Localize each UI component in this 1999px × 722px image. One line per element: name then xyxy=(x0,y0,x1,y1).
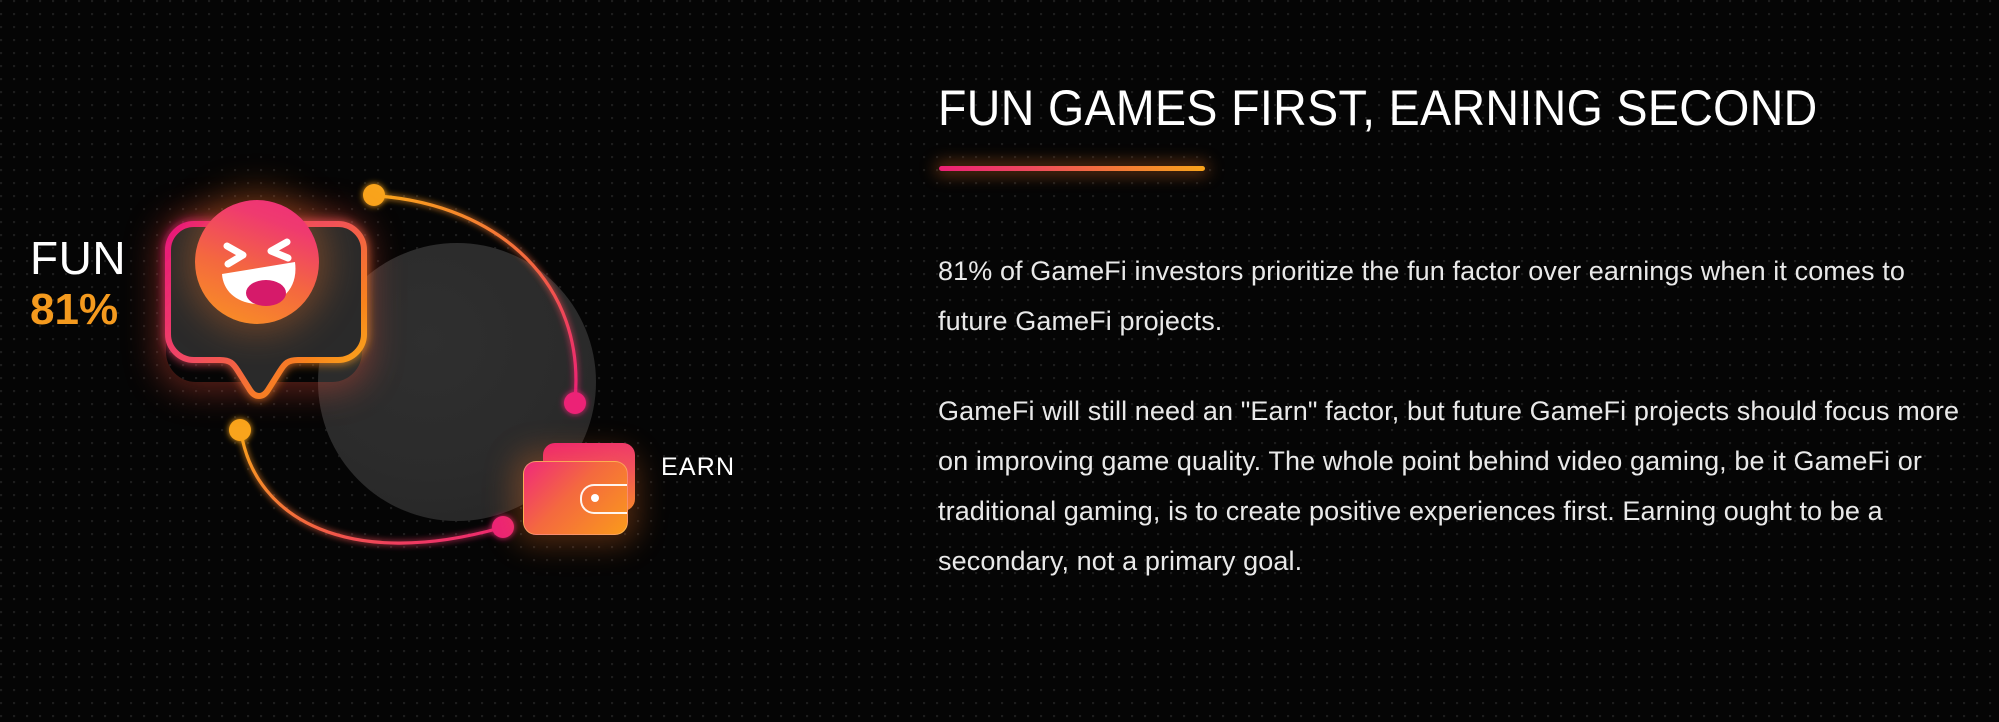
emoji-right-eye-icon xyxy=(271,242,288,258)
body-paragraph-1: 81% of GameFi investors prioritize the f… xyxy=(938,247,1968,347)
wallet-clasp-dot xyxy=(591,494,599,502)
wallet-front-card xyxy=(523,461,628,535)
wallet-icon xyxy=(505,425,645,540)
body-paragraph-2: GameFi will still need an "Earn" factor,… xyxy=(938,387,1968,587)
illustration-panel: FUN 81% xyxy=(0,0,930,722)
wallet-clasp-icon xyxy=(580,484,628,514)
page-title: FUN GAMES FIRST, EARNING SECOND xyxy=(938,82,1905,135)
emoji-tongue-icon xyxy=(246,280,286,306)
title-divider xyxy=(939,166,1205,171)
gamefi-fun-first-section: FUN 81% xyxy=(0,0,1999,722)
fun-label: FUN xyxy=(30,235,160,282)
emoji-face-features xyxy=(195,200,319,324)
fun-percent-value: 81% xyxy=(30,286,160,334)
content-panel: FUN GAMES FIRST, EARNING SECOND 81% of G… xyxy=(938,0,1968,722)
arc-top-start-dot xyxy=(363,184,385,206)
laughing-emoji-icon xyxy=(195,200,319,324)
arc-bottom-start-dot xyxy=(229,419,251,441)
fun-stat-block: FUN 81% xyxy=(30,235,160,334)
earn-label: EARN xyxy=(661,453,735,482)
emoji-left-eye-icon xyxy=(227,246,243,264)
